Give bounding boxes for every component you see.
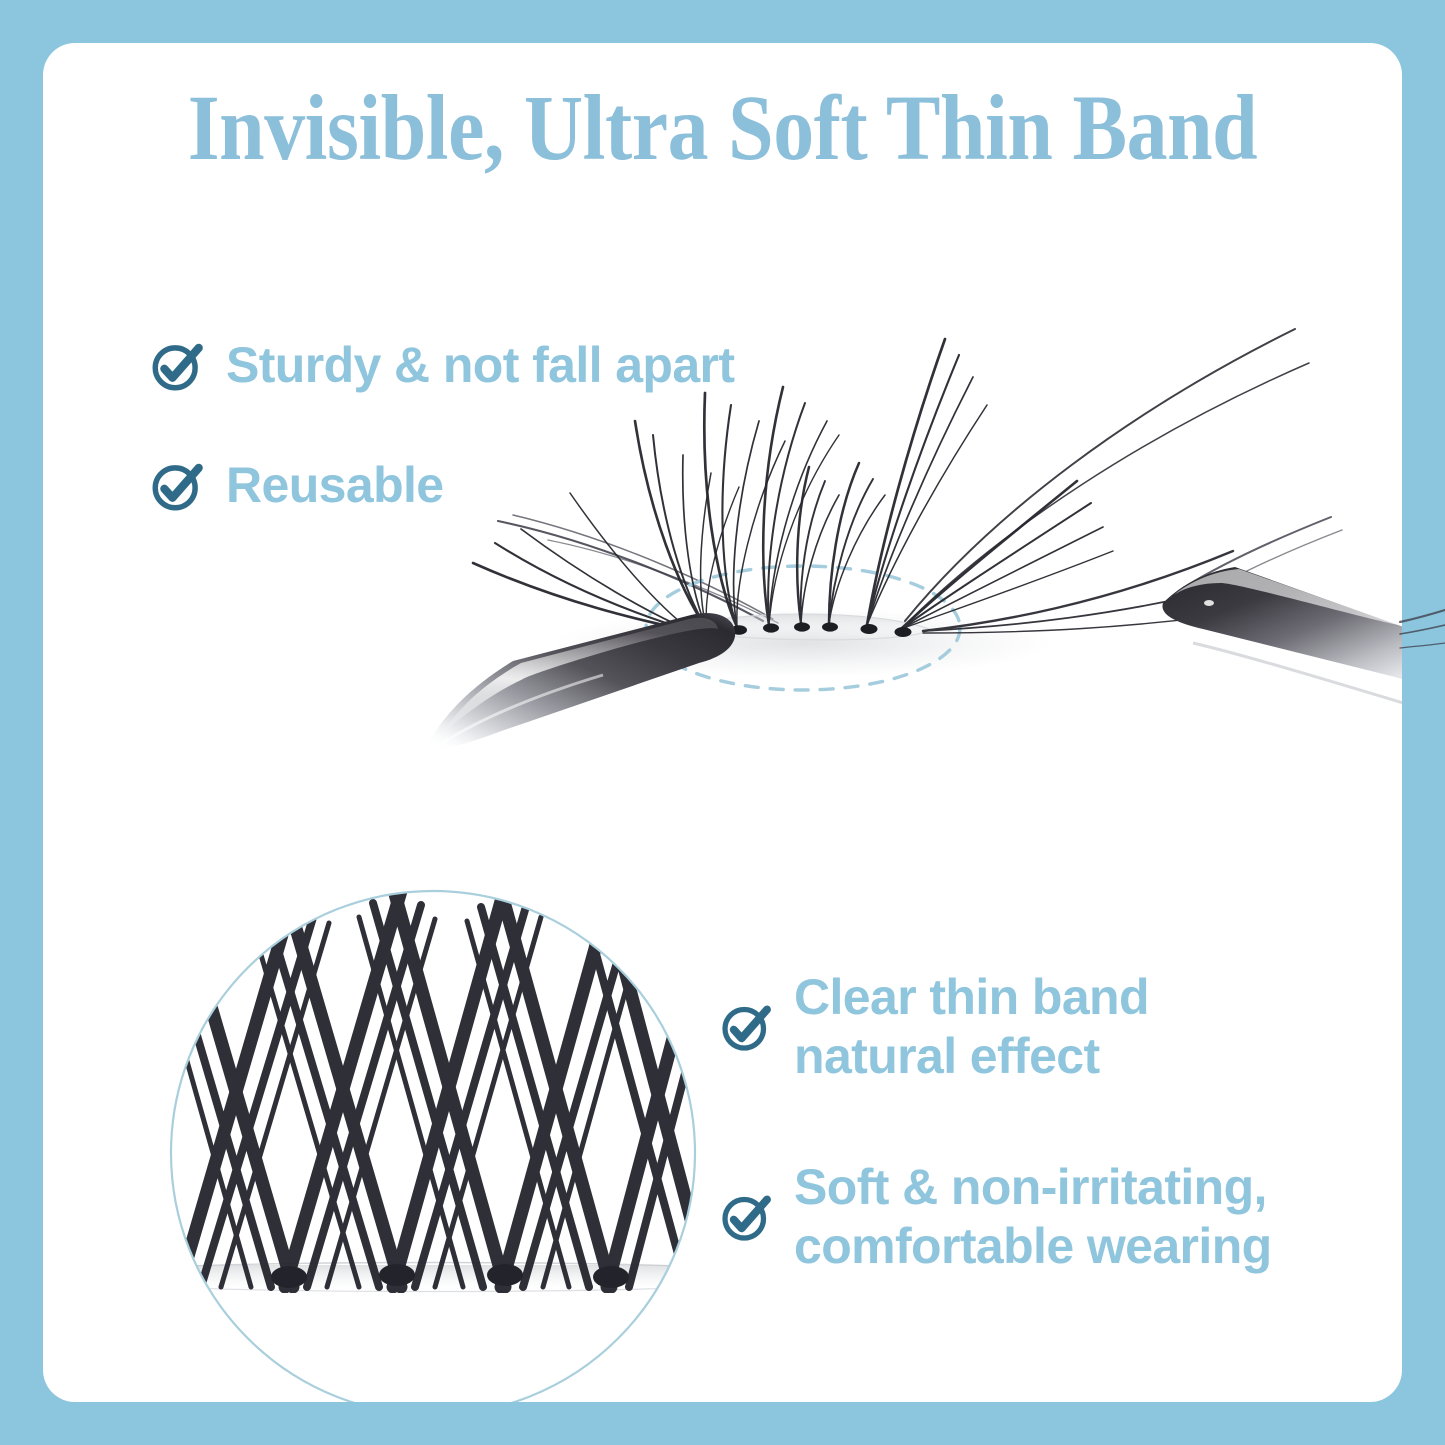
- feature-label: Sturdy & not fall apart: [226, 336, 734, 395]
- infographic-frame: Invisible, Ultra Soft Thin Band Sturdy &…: [0, 0, 1445, 1445]
- feature-label: Clear thin band natural effect: [794, 968, 1149, 1086]
- feature-item-sturdy: Sturdy & not fall apart: [148, 336, 734, 395]
- feature-item-soft: Soft & non-irritating, comfortable weari…: [718, 1158, 1272, 1276]
- check-circle-icon: [718, 1189, 774, 1245]
- check-circle-icon: [718, 999, 774, 1055]
- check-circle-icon: [148, 457, 206, 515]
- right-tweezer-arm: [1162, 567, 1402, 715]
- inset-content: [143, 863, 723, 1402]
- feature-item-reusable: Reusable: [148, 456, 444, 515]
- band-closeup-circle: [143, 863, 723, 1402]
- feature-item-clear-band: Clear thin band natural effect: [718, 968, 1149, 1086]
- check-circle-icon: [148, 337, 206, 395]
- feature-label: Soft & non-irritating, comfortable weari…: [794, 1158, 1272, 1276]
- tweezer-highlight-speck: [1204, 600, 1214, 606]
- page-title: Invisible, Ultra Soft Thin Band: [87, 82, 1359, 175]
- feature-label: Reusable: [226, 456, 444, 515]
